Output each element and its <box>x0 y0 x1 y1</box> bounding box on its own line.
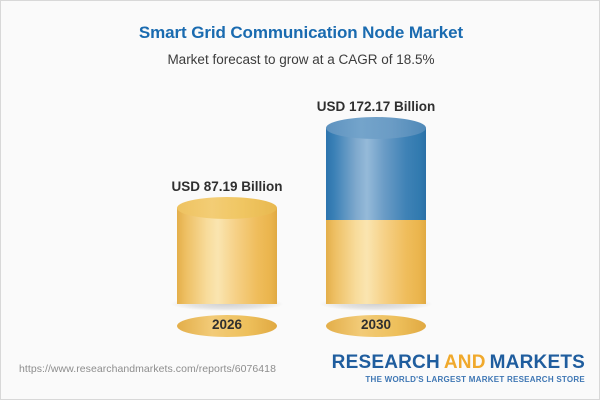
bar-category-label-2030: 2030 <box>276 317 476 332</box>
cylinder-segment-base-2030 <box>326 220 426 304</box>
cylinder-segment-growth-2030 <box>326 128 426 220</box>
logo-word-research: RESEARCH <box>332 352 440 373</box>
bar-cylinder-2030[interactable] <box>326 128 426 304</box>
logo-word-markets: MARKETS <box>490 352 585 373</box>
chart-plot-area: USD 87.19 Billion 2026 USD 172.17 Billio… <box>1 1 600 349</box>
research-and-markets-logo[interactable]: RESEARCHANDMARKETS THE WORLD'S LARGEST M… <box>332 353 585 384</box>
report-url[interactable]: https://www.researchandmarkets.com/repor… <box>19 363 276 375</box>
logo-wordmark: RESEARCHANDMARKETS <box>332 353 585 373</box>
bar-value-label-2026: USD 87.19 Billion <box>127 179 327 194</box>
cylinder-cap-2030 <box>326 117 426 139</box>
bar-value-label-2030: USD 172.17 Billion <box>276 99 476 114</box>
infographic-canvas: Smart Grid Communication Node Market Mar… <box>0 0 600 400</box>
cylinder-cap-2026 <box>177 197 277 219</box>
bar-cylinder-2026[interactable] <box>177 208 277 304</box>
logo-word-and: AND <box>444 352 486 373</box>
logo-tagline: THE WORLD'S LARGEST MARKET RESEARCH STOR… <box>332 375 585 384</box>
footer: https://www.researchandmarkets.com/repor… <box>1 347 600 399</box>
